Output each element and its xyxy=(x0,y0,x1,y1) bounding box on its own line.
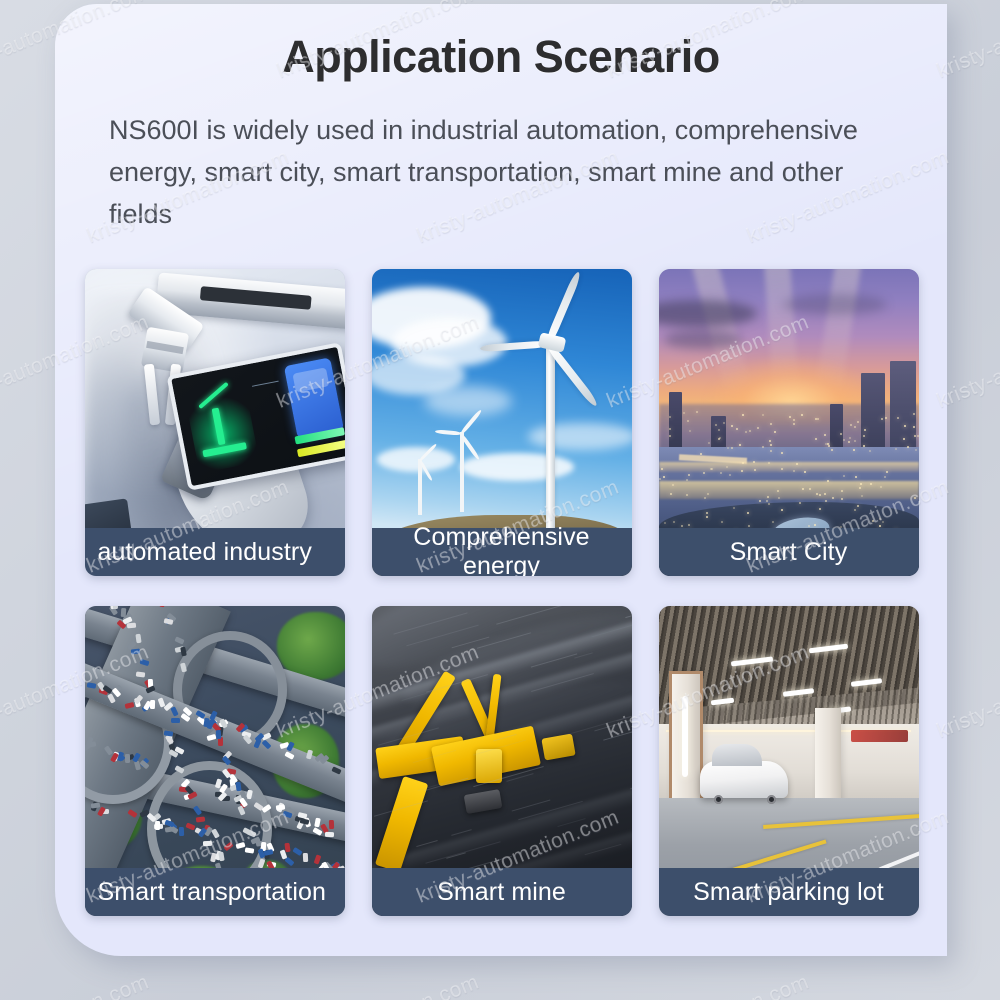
city-light xyxy=(793,470,795,472)
watermark-text: kristy-automation.com xyxy=(933,970,1000,1000)
vehicle xyxy=(150,699,155,708)
city-light xyxy=(706,516,708,518)
city-light xyxy=(720,472,722,474)
vehicle xyxy=(180,646,187,656)
vehicle xyxy=(325,832,334,837)
city-light xyxy=(857,421,859,423)
city-light xyxy=(767,496,769,498)
vehicle xyxy=(171,718,180,723)
city-light xyxy=(872,520,874,522)
vehicle xyxy=(135,634,141,644)
city-light xyxy=(814,524,816,526)
city-light xyxy=(824,434,826,436)
city-light xyxy=(688,524,690,526)
city-light xyxy=(733,507,735,509)
mine-texture-streak xyxy=(625,606,631,618)
city-light xyxy=(824,493,826,495)
city-light xyxy=(673,521,675,523)
scenario-card-grid: automated industry Compre xyxy=(55,269,947,916)
city-light xyxy=(715,424,717,426)
city-light xyxy=(864,429,866,431)
card-label-comprehensive-energy: Comprehensive energy xyxy=(372,528,632,576)
city-light xyxy=(801,414,803,416)
city-light xyxy=(762,446,764,448)
scenario-card-smart-parking-lot[interactable]: Smart parking lot xyxy=(659,606,919,916)
vehicle xyxy=(179,827,184,836)
card-label-smart-transportation: Smart transportation xyxy=(85,868,345,916)
city-light xyxy=(819,508,821,510)
city-light xyxy=(855,476,857,478)
card-label-smart-mine: Smart mine xyxy=(372,868,632,916)
city-light xyxy=(663,476,665,478)
city-light xyxy=(841,490,843,492)
city-light xyxy=(880,486,882,488)
vehicle xyxy=(196,816,206,822)
page-title: Application Scenario xyxy=(101,24,901,83)
city-light xyxy=(843,439,845,441)
vehicle xyxy=(164,730,174,736)
page-subtitle: NS600I is widely used in industrial auto… xyxy=(101,109,901,235)
city-light xyxy=(817,418,819,420)
city-light xyxy=(772,521,774,523)
city-light xyxy=(726,466,728,468)
city-light xyxy=(904,425,906,427)
vehicle xyxy=(155,821,160,830)
scenario-card-comprehensive-energy[interactable]: Comprehensive energy xyxy=(372,269,632,576)
city-light xyxy=(897,417,899,419)
city-light xyxy=(778,497,780,499)
card-label-smart-city: Smart City xyxy=(659,528,919,576)
city-light xyxy=(828,445,830,447)
vehicle xyxy=(302,852,307,861)
vehicle xyxy=(131,648,140,654)
city-light xyxy=(742,414,744,416)
vehicle xyxy=(329,820,334,829)
city-light xyxy=(879,525,881,527)
city-light xyxy=(759,500,761,502)
vehicle xyxy=(113,606,118,609)
city-light xyxy=(700,453,702,455)
vehicle xyxy=(313,855,321,865)
city-light xyxy=(879,518,881,520)
city-light xyxy=(669,435,671,437)
watermark-text: kristy-automation.com xyxy=(603,970,812,1000)
city-light xyxy=(664,522,666,524)
watermark-text: kristy-automation.com xyxy=(0,970,153,1000)
vehicle xyxy=(285,843,291,853)
city-light xyxy=(781,468,783,470)
mine-texture-streak xyxy=(630,770,631,790)
content-panel: Application Scenario NS600I is widely us… xyxy=(55,4,947,956)
vehicle xyxy=(263,849,273,856)
scenario-card-automated-industry[interactable]: automated industry xyxy=(85,269,345,576)
city-light xyxy=(747,512,749,514)
scenario-card-smart-city[interactable]: Smart City xyxy=(659,269,919,576)
city-light xyxy=(854,440,856,442)
city-light xyxy=(723,422,725,424)
vehicle xyxy=(292,847,302,856)
city-light xyxy=(827,480,829,482)
city-light xyxy=(736,428,738,430)
city-light xyxy=(742,462,744,464)
card-label-automated-industry: automated industry xyxy=(85,528,345,576)
page-header: Application Scenario NS600I is widely us… xyxy=(55,4,947,235)
city-light xyxy=(770,423,772,425)
scenario-card-smart-transportation[interactable]: Smart transportation xyxy=(85,606,345,916)
city-light xyxy=(704,497,706,499)
city-light xyxy=(749,430,751,432)
city-light xyxy=(721,521,723,523)
mine-texture-streak xyxy=(451,829,471,836)
city-light xyxy=(914,435,916,437)
vehicle xyxy=(125,754,130,763)
city-light xyxy=(895,448,897,450)
city-light xyxy=(670,493,672,495)
mine-texture-streak xyxy=(506,773,533,782)
city-light xyxy=(917,435,918,437)
city-light xyxy=(754,469,756,471)
city-light xyxy=(688,474,690,476)
city-light xyxy=(915,449,917,451)
vehicle xyxy=(120,608,126,617)
city-light xyxy=(681,525,683,527)
city-light xyxy=(848,441,850,443)
mine-texture-streak xyxy=(512,800,551,812)
vehicle xyxy=(203,841,212,846)
card-label-smart-parking-lot: Smart parking lot xyxy=(659,868,919,916)
city-light xyxy=(804,471,806,473)
city-light xyxy=(841,498,843,500)
scenario-card-smart-mine[interactable]: Smart mine xyxy=(372,606,632,916)
watermark-text: kristy-automation.com xyxy=(273,970,482,1000)
vehicle xyxy=(216,730,222,739)
